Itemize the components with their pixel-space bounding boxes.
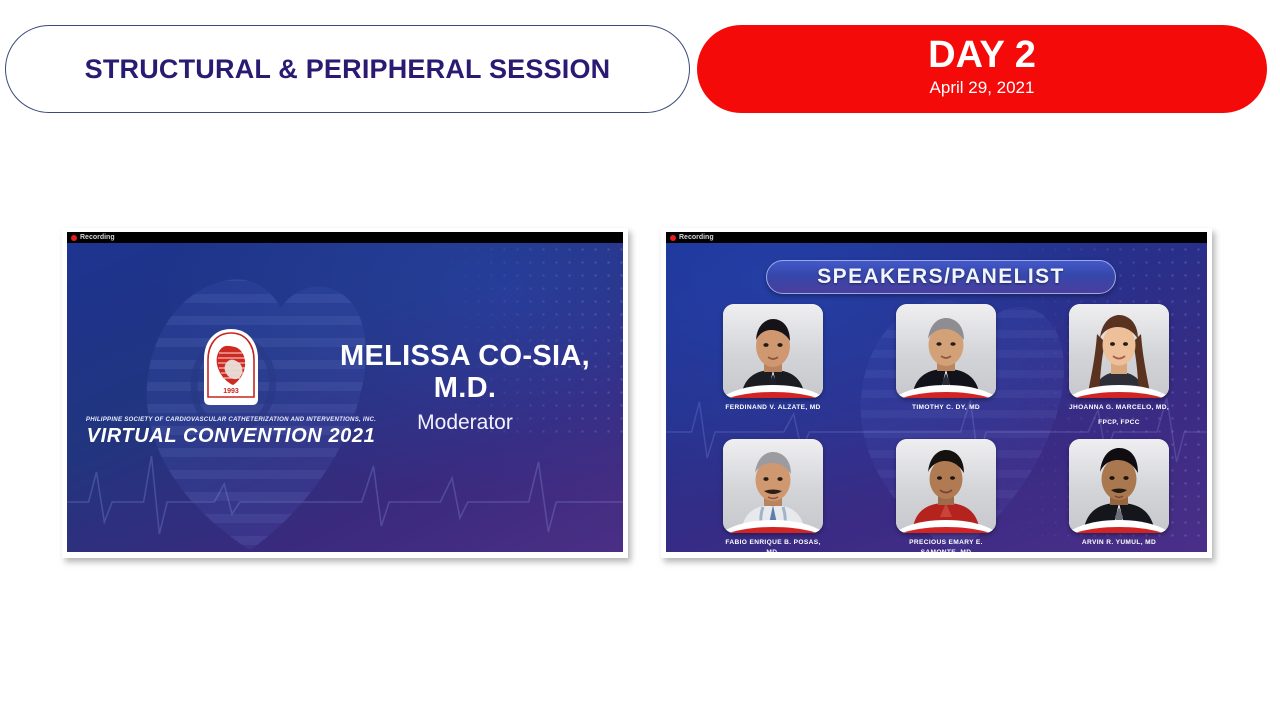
- recording-indicator-right: Recording: [666, 232, 1207, 243]
- speaker-portrait: [723, 439, 823, 533]
- speaker-name-line2: FPCP, FPCC: [1067, 418, 1171, 428]
- portrait-figure: [723, 304, 823, 398]
- speaker-portrait: [723, 304, 823, 398]
- portrait-figure: [1069, 439, 1169, 533]
- recording-dot-icon: [670, 235, 676, 241]
- recording-dot-icon: [71, 235, 77, 241]
- session-title-badge: STRUCTURAL & PERIPHERAL SESSION: [5, 25, 690, 113]
- recording-indicator-left: Recording: [67, 232, 623, 243]
- slide-thumbnail-moderator[interactable]: 1993 PHILIPPINE SOCIETY OF CARDIOVASCULA…: [62, 228, 628, 558]
- svg-text:1993: 1993: [223, 388, 239, 395]
- moderator-name-line1: MELISSA CO-SIA,: [315, 340, 615, 372]
- speaker-name-line1: FERDINAND V. ALZATE, MD: [721, 403, 825, 413]
- session-title-text: STRUCTURAL & PERIPHERAL SESSION: [85, 54, 611, 85]
- portrait-figure: [896, 304, 996, 398]
- speaker-portrait: [896, 304, 996, 398]
- moderator-name-block: MELISSA CO-SIA, M.D. Moderator: [315, 340, 615, 436]
- speakers-grid: FERDINAND V. ALZATE, MD: [721, 304, 1171, 552]
- speaker-portrait: [1069, 304, 1169, 398]
- speaker-name-line1: PRECIOUS EMARY E. SAMONTE, MD: [894, 538, 998, 552]
- speakers-panel-title-badge: SPEAKERS/PANELIST: [766, 260, 1116, 294]
- day-badge: DAY 2 April 29, 2021: [697, 25, 1267, 113]
- day-label: DAY 2: [928, 36, 1036, 76]
- speaker-name-line1: TIMOTHY C. DY, MD: [894, 403, 998, 413]
- speaker-name-line1: ARVIN R. YUMUL, MD: [1067, 538, 1171, 548]
- speaker-name-line1: FABIO ENRIQUE B. POSAS, MD,: [721, 538, 825, 552]
- slide-left-content: 1993 PHILIPPINE SOCIETY OF CARDIOVASCULA…: [67, 232, 623, 552]
- speaker-portrait: [1069, 439, 1169, 533]
- speaker-card[interactable]: FERDINAND V. ALZATE, MD: [721, 304, 825, 428]
- speakers-panel-title-text: SPEAKERS/PANELIST: [817, 265, 1064, 289]
- recording-label-left: Recording: [80, 234, 115, 241]
- speaker-portrait: [896, 439, 996, 533]
- recording-label-right: Recording: [679, 234, 714, 241]
- slide-canvas: STRUCTURAL & PERIPHERAL SESSION DAY 2 Ap…: [0, 0, 1280, 720]
- day-date: April 29, 2021: [930, 77, 1035, 100]
- slide-thumbnail-speakers[interactable]: SPEAKERS/PANELIST: [661, 228, 1212, 558]
- speakers-row-2: FABIO ENRIQUE B. POSAS, MD, FPCP, FPCC, …: [721, 439, 1171, 552]
- speaker-card[interactable]: ARVIN R. YUMUL, MD: [1067, 439, 1171, 552]
- speakers-row-1: FERDINAND V. ALZATE, MD: [721, 304, 1171, 428]
- speaker-card[interactable]: PRECIOUS EMARY E. SAMONTE, MD: [894, 439, 998, 552]
- psccci-crest-icon: 1993: [200, 327, 262, 407]
- speaker-card[interactable]: JHOANNA G. MARCELO, MD, FPCP, FPCC: [1067, 304, 1171, 428]
- speaker-card[interactable]: TIMOTHY C. DY, MD: [894, 304, 998, 428]
- moderator-role: Moderator: [315, 409, 615, 436]
- slide-right-content: SPEAKERS/PANELIST: [666, 232, 1207, 552]
- portrait-figure: [723, 439, 823, 533]
- portrait-figure: [896, 439, 996, 533]
- portrait-figure: [1069, 304, 1169, 398]
- speaker-name-line1: JHOANNA G. MARCELO, MD,: [1067, 403, 1171, 413]
- speaker-card[interactable]: FABIO ENRIQUE B. POSAS, MD, FPCP, FPCC, …: [721, 439, 825, 552]
- moderator-name-line2: M.D.: [315, 372, 615, 404]
